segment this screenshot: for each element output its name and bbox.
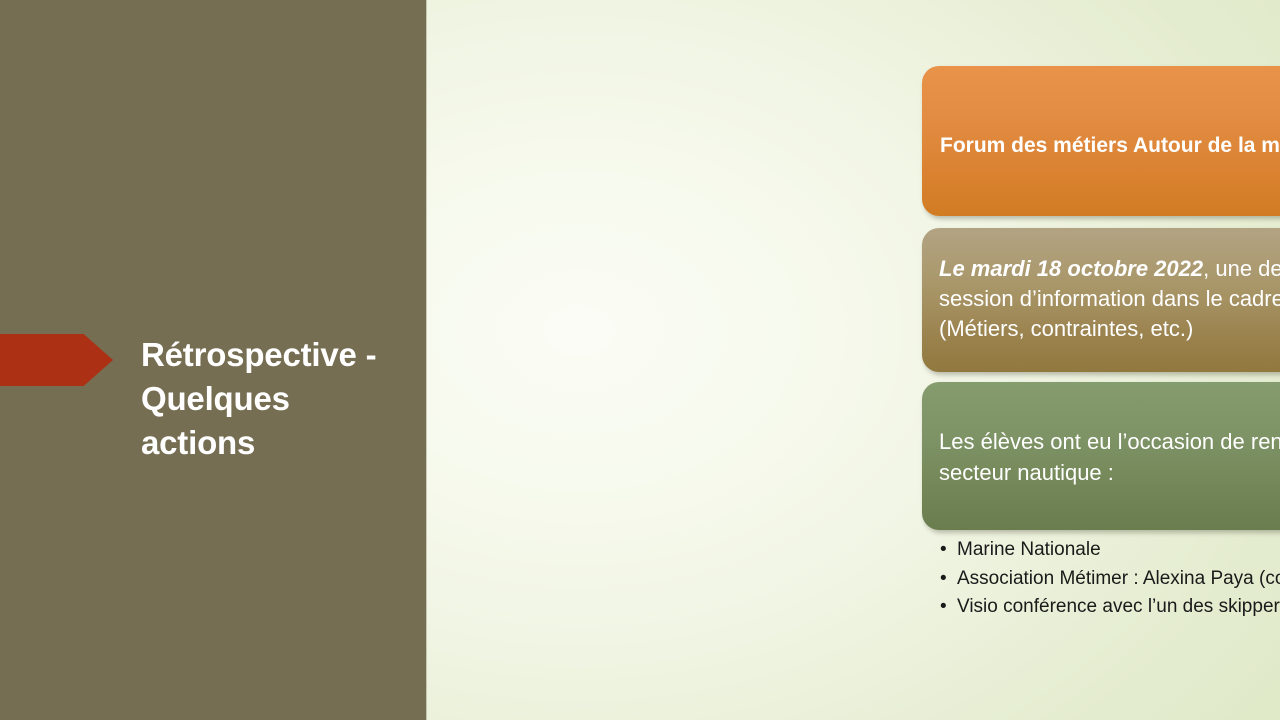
- left-title-panel: Rétrospective - Quelques actions: [0, 0, 426, 720]
- list-item: •Visio conférence avec l’un des skipper …: [938, 593, 1280, 622]
- callout-box-green: Les élèves ont eu l’occasion de rencontr…: [922, 382, 1280, 530]
- list-item-label: Visio conférence avec l’un des skipper d…: [957, 596, 1280, 617]
- panel-divider: [426, 0, 427, 720]
- callout-green-text: Les élèves ont eu l’occasion de rencontr…: [922, 426, 1280, 488]
- callout-brown-emphasis: Le mardi 18 octobre 2022: [939, 256, 1203, 281]
- bullet-dot-icon: •: [940, 593, 947, 622]
- list-item: •Marine Nationale: [938, 536, 1280, 565]
- bullet-list: •Marine Nationale •Association Métimer :…: [938, 536, 1280, 622]
- callout-box-brown: Le mardi 18 octobre 2022, une demi-journ…: [922, 228, 1280, 372]
- callout-brown-text: Le mardi 18 octobre 2022, une demi-journ…: [922, 254, 1280, 344]
- list-item: •Association Métimer : Alexina Paya (coo…: [938, 565, 1280, 594]
- bullet-dot-icon: •: [940, 565, 947, 594]
- callout-orange-text: Forum des métiers Autour de la mer: [922, 132, 1280, 160]
- list-item-label: Association Métimer : Alexina Paya (coor…: [957, 568, 1280, 589]
- arrow-accent-icon: [0, 334, 113, 386]
- page-title: Rétrospective - Quelques actions: [141, 333, 411, 465]
- content-area: Forum des métiers Autour de la mer Le ma…: [426, 0, 1280, 720]
- list-item-label: Marine Nationale: [957, 539, 1101, 560]
- callout-box-orange: Forum des métiers Autour de la mer: [922, 66, 1280, 216]
- bullet-dot-icon: •: [940, 536, 947, 565]
- slide: Rétrospective - Quelques actions Forum d…: [0, 0, 1280, 720]
